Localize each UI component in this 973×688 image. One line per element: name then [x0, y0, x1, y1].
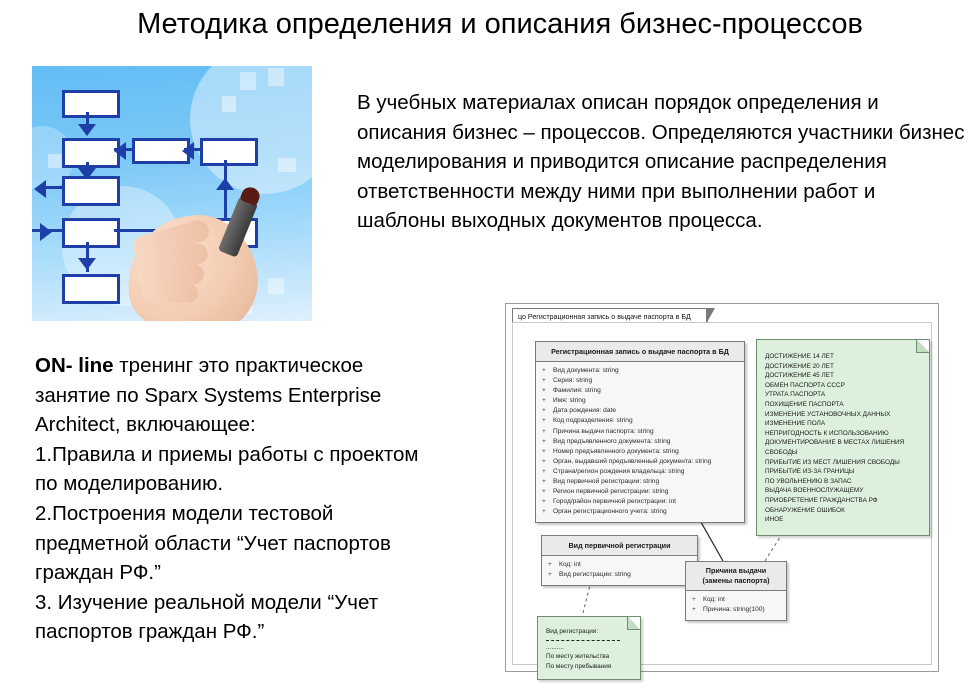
- visibility-public-icon: +: [542, 437, 546, 447]
- onl-line-bold: ON- line: [35, 354, 114, 377]
- class-box-registration-type[interactable]: Вид первичной регистрации +Код: int +Вид…: [541, 535, 698, 586]
- flow-box: [200, 138, 258, 166]
- attribute-row: +Фамилия: string: [539, 386, 741, 396]
- gear-tooth: [240, 72, 256, 90]
- arrow-left-icon: [114, 142, 126, 160]
- note-registration-type[interactable]: Вид регистрации: .......... По месту жит…: [537, 616, 641, 680]
- attribute-text: Вид первичной регистрации: string: [553, 478, 659, 485]
- visibility-public-icon: +: [692, 595, 696, 605]
- visibility-public-icon: +: [542, 477, 546, 487]
- note-line: ПОХИЩЕНИЕ ПАСПОРТА: [765, 400, 923, 410]
- body-line-4: по моделированию.: [35, 469, 505, 499]
- attribute-row: +Вид документа: string: [539, 366, 741, 376]
- attribute-text: Вид регистрации: string: [559, 571, 631, 578]
- body-line-7: граждан РФ.”: [35, 558, 505, 588]
- attribute-text: Вид документа: string: [553, 367, 619, 374]
- class-title: Регистрационная запись о выдаче паспорта…: [536, 342, 744, 362]
- flow-box: [62, 218, 120, 248]
- attribute-row: +Имя: string: [539, 396, 741, 406]
- arrow-left-icon: [182, 142, 194, 160]
- visibility-public-icon: +: [542, 447, 546, 457]
- attribute-text: Серия: string: [553, 377, 592, 384]
- arrow-left-icon: [34, 180, 46, 198]
- attribute-text: Дата рождения: date: [553, 407, 616, 414]
- class-title: Вид первичной регистрации: [542, 536, 697, 556]
- note-fold-corner: [916, 340, 929, 353]
- attribute-text: Код: int: [703, 596, 725, 603]
- note-line: СВОБОДЫ: [765, 448, 923, 458]
- note-fold-corner: [627, 617, 640, 630]
- attribute-text: Вид предъявленного документа: string: [553, 438, 670, 445]
- attribute-row: +Серия: string: [539, 376, 741, 386]
- note-line: ДОКУМЕНТИРОВАНИЕ В МЕСТАХ ЛИШЕНИЯ: [765, 438, 923, 448]
- attribute-row: +Вид регистрации: string: [545, 570, 694, 580]
- note-line: ПО УВОЛЬНЕНИЮ В ЗАПАС: [765, 477, 923, 487]
- note-line: ПРИОБРЕТЕНИЕ ГРАЖДАНСТВА РФ: [765, 496, 923, 506]
- visibility-public-icon: +: [542, 497, 546, 507]
- visibility-public-icon: +: [548, 560, 552, 570]
- visibility-public-icon: +: [542, 376, 546, 386]
- body-line-6: предметной области “Учет паспортов: [35, 529, 505, 559]
- finger: [142, 282, 199, 303]
- attribute-text: Код: int: [559, 561, 581, 568]
- flow-box: [62, 274, 120, 304]
- attribute-row: +Код: int: [689, 595, 783, 605]
- page-title: Методика определения и описания бизнес-п…: [120, 6, 880, 42]
- note-line: ВЫДАЧА ВОЕННОСЛУЖАЩЕМУ: [765, 486, 923, 496]
- note-line: По месту жительства: [546, 652, 634, 662]
- attribute-text: Код подразделения: string: [553, 417, 633, 424]
- training-description: ON- line тренинг это практическое заняти…: [35, 351, 505, 647]
- arrow-down-icon: [78, 124, 96, 136]
- visibility-public-icon: +: [542, 427, 546, 437]
- class-title: Причина выдачи (замены паспорта): [686, 562, 786, 591]
- diagram-sheet: Регистрационная запись о выдаче паспорта…: [512, 322, 932, 665]
- body-line-0-rest: тренинг это практическое: [114, 354, 364, 377]
- attribute-row: +Вид первичной регистрации: string: [539, 477, 741, 487]
- note-dots: ..........: [546, 643, 634, 653]
- attribute-row: +Номер предъявленного документа: string: [539, 447, 741, 457]
- visibility-public-icon: +: [542, 467, 546, 477]
- attribute-row: +Страна/регион рождения владельца: strin…: [539, 467, 741, 477]
- attribute-row: +Причина: string(100): [689, 605, 783, 615]
- visibility-public-icon: +: [542, 386, 546, 396]
- class-title-line1: Причина выдачи: [706, 566, 766, 575]
- attribute-text: Фамилия: string: [553, 387, 601, 394]
- flow-box: [62, 90, 120, 118]
- visibility-public-icon: +: [542, 366, 546, 376]
- attribute-row: +Вид предъявленного документа: string: [539, 437, 741, 447]
- attribute-row: +Код подразделения: string: [539, 416, 741, 426]
- flow-box: [62, 138, 120, 168]
- visibility-public-icon: +: [548, 570, 552, 580]
- intro-paragraph: В учебных материалах описан порядок опре…: [357, 88, 967, 236]
- note-line: ДОСТИЖЕНИЕ 45 ЛЕТ: [765, 371, 923, 381]
- gear-tooth: [268, 278, 284, 294]
- body-line-9: паспортов граждан РФ.”: [35, 617, 505, 647]
- class-attributes: +Код: int +Вид регистрации: string: [542, 556, 697, 585]
- attribute-text: Причина выдачи паспорта: string: [553, 428, 654, 435]
- class-attributes: +Вид документа: string +Серия: string +Ф…: [536, 362, 744, 522]
- arrow-up-icon: [216, 178, 234, 190]
- note-line: ПРИБЫТИЕ ИЗ МЕСТ ЛИШЕНИЯ СВОБОДЫ: [765, 458, 923, 468]
- gear-tooth: [268, 68, 284, 86]
- note-line: ДОСТИЖЕНИЕ 14 ЛЕТ: [765, 352, 923, 362]
- attribute-row: +Дата рождения: date: [539, 406, 741, 416]
- uml-class-diagram: цо Регистрационная запись о выдаче паспо…: [505, 303, 939, 672]
- note-line: ИНОЕ: [765, 515, 923, 525]
- attribute-row: +Город/район первичной регистрации: int: [539, 497, 741, 507]
- arrow-down-icon: [78, 258, 96, 270]
- body-line-1: занятие по Sparx Systems Enterprise: [35, 381, 505, 411]
- visibility-public-icon: +: [542, 396, 546, 406]
- flowchart-photo: [32, 66, 312, 321]
- gear-tooth: [222, 96, 236, 112]
- visibility-public-icon: +: [542, 507, 546, 517]
- note-line: УТРАТА ПАСПОРТА: [765, 390, 923, 400]
- slide-canvas: Методика определения и описания бизнес-п…: [0, 0, 973, 688]
- visibility-public-icon: +: [542, 457, 546, 467]
- gear-tooth: [278, 158, 296, 172]
- attribute-row: +Регион первичной регистрации: string: [539, 487, 741, 497]
- gear-tooth: [48, 154, 62, 168]
- flow-connector: [224, 160, 227, 220]
- body-line-0: ON- line тренинг это практическое: [35, 351, 505, 381]
- class-box-main[interactable]: Регистрационная запись о выдаче паспорта…: [535, 341, 745, 523]
- attribute-text: Причина: string(100): [703, 606, 765, 613]
- note-header: Вид регистрации:: [546, 627, 634, 637]
- body-line-5: 2.Построения модели тестовой: [35, 499, 505, 529]
- attribute-text: Орган регистрационного учета: string: [553, 508, 667, 515]
- attribute-row: +Орган регистрационного учета: string: [539, 507, 741, 517]
- attribute-row: +Орган, выдавший предъявленный документа…: [539, 457, 741, 467]
- attribute-row: +Код: int: [545, 560, 694, 570]
- note-line: ПРИБЫТИЕ ИЗ-ЗА ГРАНИЦЫ: [765, 467, 923, 477]
- body-line-3: 1.Правила и приемы работы с проектом: [35, 440, 505, 470]
- class-title-line2: (замены паспорта): [703, 576, 770, 585]
- visibility-public-icon: +: [542, 406, 546, 416]
- visibility-public-icon: +: [692, 605, 696, 615]
- note-line: ОБМЕН ПАСПОРТА СССР: [765, 381, 923, 391]
- attribute-text: Имя: string: [553, 397, 586, 404]
- attribute-text: Номер предъявленного документа: string: [553, 448, 679, 455]
- body-line-8: 3. Изучение реальной модели “Учет: [35, 588, 505, 618]
- attribute-text: Город/район первичной регистрации: int: [553, 498, 676, 505]
- visibility-public-icon: +: [542, 487, 546, 497]
- note-line: ИЗМЕНЕНИЕ УСТАНОВОЧНЫХ ДАННЫХ: [765, 410, 923, 420]
- class-box-issue-reason[interactable]: Причина выдачи (замены паспорта) +Код: i…: [685, 561, 787, 621]
- attribute-text: Орган, выдавший предъявленный документа:…: [553, 458, 711, 465]
- note-reasons[interactable]: ДОСТИЖЕНИЕ 14 ЛЕТ ДОСТИЖЕНИЕ 20 ЛЕТ ДОСТ…: [756, 339, 930, 536]
- flow-box: [62, 176, 120, 206]
- visibility-public-icon: +: [542, 416, 546, 426]
- attribute-row: +Причина выдачи паспорта: string: [539, 427, 741, 437]
- attribute-text: Страна/регион рождения владельца: string: [553, 468, 684, 475]
- note-line: ДОСТИЖЕНИЕ 20 ЛЕТ: [765, 362, 923, 372]
- arrow-right-icon: [40, 223, 52, 241]
- note-line: ОБНАРУЖЕНИЕ ОШИБОК: [765, 506, 923, 516]
- note-line: ИЗМЕНЕНИЕ ПОЛА: [765, 419, 923, 429]
- class-attributes: +Код: int +Причина: string(100): [686, 591, 786, 620]
- body-line-2: Architect, включающее:: [35, 410, 505, 440]
- note-divider: [546, 640, 620, 641]
- note-line: По месту пребывания: [546, 662, 634, 672]
- note-line: НЕПРИГОДНОСТЬ К ИСПОЛЬЗОВАНИЮ: [765, 429, 923, 439]
- attribute-text: Регион первичной регистрации: string: [553, 488, 668, 495]
